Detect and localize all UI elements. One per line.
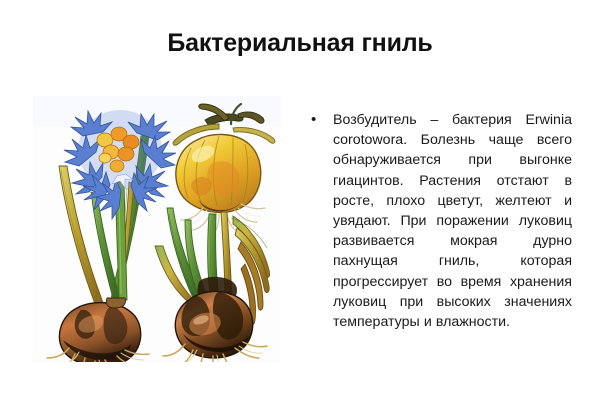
bullet-marker-icon: • — [311, 110, 316, 130]
bullet-text: Возбудитель – бактерия Erwinia corotowor… — [333, 110, 572, 332]
hyacinth-bacterial-rot-illustration — [33, 96, 281, 362]
page-title: Бактериальная гниль — [0, 26, 600, 60]
list-item: • Возбудитель – бактерия Erwinia corotow… — [308, 110, 572, 332]
illustration-panel — [33, 96, 281, 362]
bullet-text-panel: • Возбудитель – бактерия Erwinia corotow… — [308, 110, 572, 332]
